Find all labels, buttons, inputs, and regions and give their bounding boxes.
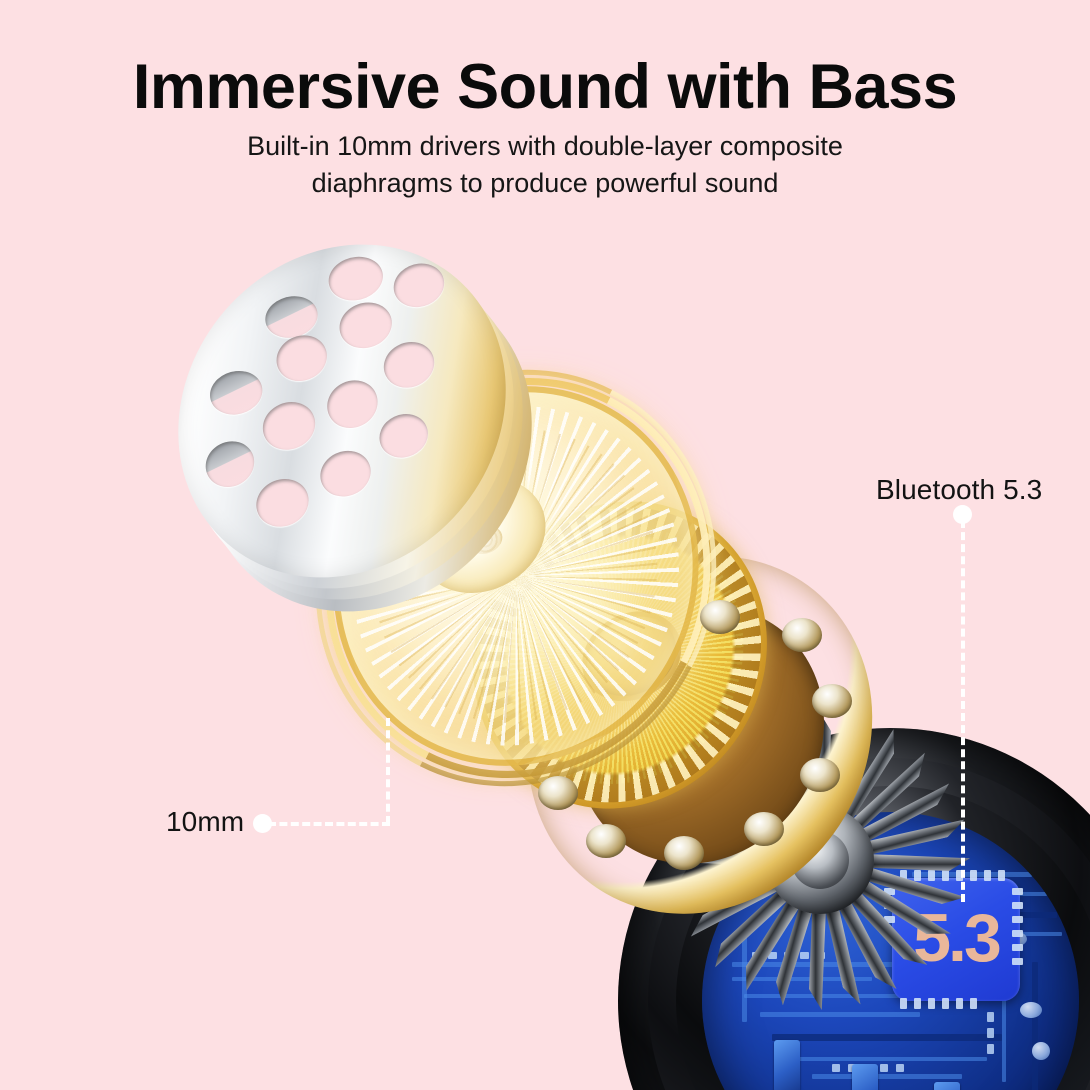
magnet-bolt: [664, 836, 704, 870]
subtitle-line-2: diaphragms to produce powerful sound: [145, 165, 945, 202]
callout-leader-driver-size-vertical: [386, 718, 390, 824]
page-subtitle: Built-in 10mm drivers with double-layer …: [145, 128, 945, 203]
magnet-bolt: [700, 600, 740, 634]
magnet-bolt: [782, 618, 822, 652]
magnet-bolt: [744, 812, 784, 846]
metal-mesh-grille: [172, 252, 544, 592]
subtitle-line-1: Built-in 10mm drivers with double-layer …: [247, 131, 843, 161]
magnet-bolt: [586, 824, 626, 858]
grille-face: [137, 190, 548, 631]
callout-leader-bluetooth: [961, 520, 965, 902]
callout-label-bluetooth: Bluetooth 5.3: [876, 474, 1042, 506]
magnet-bolt: [812, 684, 852, 718]
callout-leader-driver-size-horizontal: [268, 822, 390, 826]
magnet-bolt: [800, 758, 840, 792]
magnet-bolt: [538, 776, 578, 810]
infographic-canvas: 5.3: [0, 0, 1090, 1090]
page-title: Immersive Sound with Bass: [0, 56, 1090, 119]
callout-label-driver-size: 10mm: [166, 806, 244, 838]
